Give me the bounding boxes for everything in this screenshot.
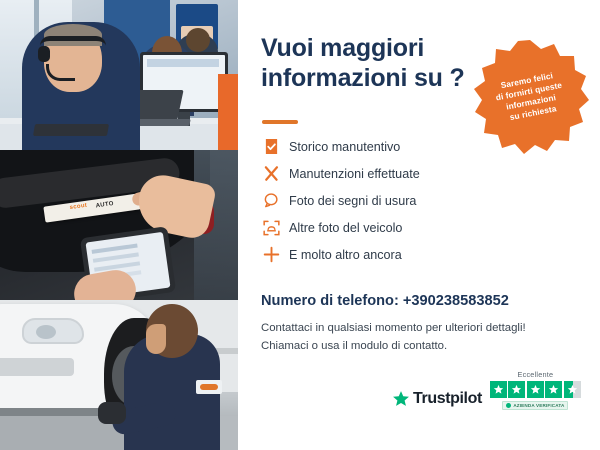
request-info-burst-badge: Saremo felici di fornirti queste informa… (471, 38, 589, 156)
agent-headset-band (40, 36, 106, 46)
trustpilot-star-icon (392, 390, 410, 408)
magnifier-icon (260, 191, 282, 211)
phone-number[interactable]: +390238583852 (403, 293, 509, 309)
trustpilot-rating-caption: Eccellente (518, 370, 554, 379)
background-colleague-two-head (186, 28, 210, 52)
trustpilot-stars (490, 381, 581, 398)
list-item-label: Storico manutentivo (289, 140, 400, 154)
list-item: Manutenzioni effettuate (260, 160, 480, 187)
wrench-screwdriver-icon (260, 164, 282, 184)
star-filled-1 (490, 381, 507, 398)
title-underline-rule (262, 120, 298, 124)
feature-list: Storico manutentivo Manutenzioni effettu… (260, 133, 480, 268)
contact-subtext: Contattaci in qualsiasi momento per ulte… (261, 319, 561, 356)
star-filled-2 (508, 381, 525, 398)
verified-business-label: AZIENDA VERIFICATA (513, 403, 564, 408)
list-item: E molto altro ancora (260, 241, 480, 268)
list-item-label: Foto dei segni di usura (289, 194, 416, 208)
call-centre-agent-with-headset-photo (0, 0, 238, 150)
car-headlamp (22, 318, 84, 344)
page-title-line-2: informazioni su ? (261, 64, 476, 94)
list-item: Foto dei segni di usura (260, 187, 480, 214)
list-item-label: Manutenzioni effettuate (289, 167, 420, 181)
burst-badge-text: Saremo felici di fornirti queste informa… (481, 67, 580, 128)
verified-check-icon (506, 403, 511, 408)
car-photo-frame-icon (260, 218, 282, 238)
content-panel: Vuoi maggiori informazioni su ? Saremo f… (238, 0, 600, 450)
mechanic-uniform-badge (196, 380, 222, 394)
trustpilot-score-block: Eccellente AZIENDA VERIFICATA (490, 370, 581, 410)
list-item-label: Altre foto del veicolo (289, 221, 402, 235)
keyboard (33, 124, 109, 136)
page-title: Vuoi maggiori informazioni su ? (261, 34, 476, 93)
phone-number-heading: Numero di telefono: +390238583852 (261, 293, 509, 309)
contact-subtext-line-2: Chiamaci o usa il modulo di contatto. (261, 337, 561, 355)
mechanic-inspecting-white-car-wheel-photo (0, 300, 238, 450)
trustpilot-rating-widget[interactable]: Trustpilot Eccellente AZIENDA VERIFICATA (392, 370, 592, 410)
page-title-line-1: Vuoi maggiori (261, 34, 476, 64)
trustpilot-logo: Trustpilot (392, 390, 482, 410)
star-filled-3 (527, 381, 544, 398)
burst-badge-content: Saremo felici di fornirti queste informa… (461, 28, 599, 166)
verified-business-badge: AZIENDA VERIFICATA (502, 401, 568, 410)
strip-brand-label: AUTOscout (69, 203, 87, 211)
mechanic-glove (98, 402, 126, 424)
contact-subtext-line-1: Contattaci in qualsiasi momento per ulte… (261, 319, 561, 337)
star-half-5 (564, 381, 581, 398)
list-item: Altre foto del veicolo (260, 214, 480, 241)
car-front-grille (0, 358, 74, 376)
phone-label: Numero di telefono: (261, 293, 399, 309)
list-item: Storico manutentivo (260, 133, 480, 160)
orange-wall-stripe (218, 74, 238, 150)
mechanic-face (146, 324, 166, 354)
trustpilot-wordmark: Trustpilot (413, 390, 482, 408)
photo-column: AUTOscout (0, 0, 238, 450)
plus-icon (260, 245, 282, 265)
agent-headset-earcup (38, 46, 50, 62)
star-filled-4 (545, 381, 562, 398)
list-item-label: E molto altro ancora (289, 248, 402, 262)
hand-holding-measuring-strip-on-dark-car-photo: AUTOscout (0, 150, 238, 300)
headset-icon (461, 46, 487, 72)
vehicle-info-advert: AUTOscout Vuoi maggio (0, 0, 600, 450)
document-check-icon (260, 137, 282, 157)
